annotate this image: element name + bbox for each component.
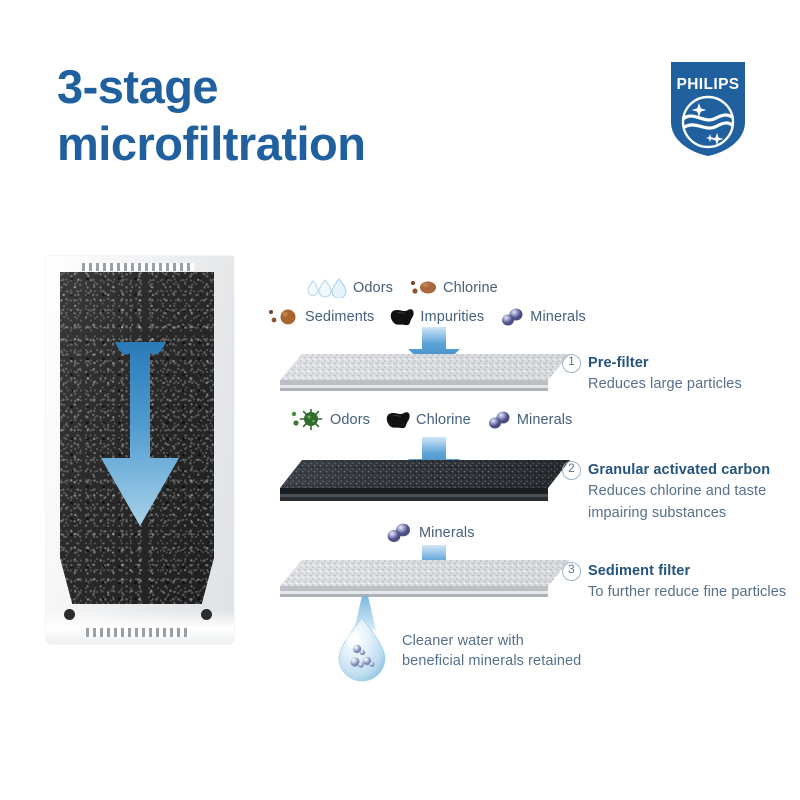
page-title: 3-stage microfiltration [57,58,537,173]
stage-number-badge: 1 [562,354,581,373]
prefilter-slab [280,350,570,394]
mineral-spheres-icon [487,410,513,430]
result-block: Cleaner water with beneficial minerals r… [333,616,581,687]
contaminant-minerals: Minerals [487,410,573,430]
cartridge-top-slots [82,263,194,271]
contaminant-chlorine: Chlorine [409,278,498,298]
cartridge-nub-left [64,609,75,620]
contaminant-odors: Odors [305,278,393,298]
stage-title: Pre-filter [588,355,649,371]
contaminant-label: Minerals [517,412,573,428]
contaminant-label: Odors [330,412,370,428]
svg-text:PHILIPS: PHILIPS [676,76,739,93]
black-blob-icon [390,307,416,327]
stage-title: Sediment filter [588,563,690,579]
contaminant-label: Minerals [530,309,586,325]
contaminant-sediments: Sediments [267,307,374,327]
black-blob-icon [386,410,412,430]
sediment-slab [280,556,570,600]
contaminant-minerals: Minerals [500,307,586,327]
contaminant-row-1-line-2: Sediments Impurities [267,307,586,327]
water-filter-cartridge [46,256,234,644]
down-arrow-icon [97,340,183,528]
contaminant-chlorine: Chlorine [386,410,471,430]
contaminant-minerals: Minerals [385,522,475,544]
philips-shield-logo: PHILIPS [669,60,747,158]
contaminant-row-1-line-1: Odors Chlorine [305,278,498,298]
stage-desc: To further reduce fine particles [588,584,786,600]
mineral-spheres-icon [385,522,415,544]
stage-title: Granular activated carbon [588,462,770,478]
contaminant-row-2: Odors Chlorine [290,409,572,431]
contaminant-row-3: Minerals [385,522,475,544]
water-droplet-with-minerals-icon [333,616,391,687]
contaminant-odors: Odors [290,409,370,431]
carbon-slab [280,456,570,504]
contaminant-label: Chlorine [416,412,471,428]
stage-3-description: 3 Sediment filter To further reduce fine… [562,560,786,603]
stage-1-description: 1 Pre-filter Reduces large particles [562,352,742,395]
stage-number-badge: 2 [562,461,581,480]
contaminant-impurities: Impurities [390,307,484,327]
green-germ-icon [290,409,326,431]
result-text: Cleaner water with beneficial minerals r… [402,632,581,671]
infographic-canvas: 3-stage microfiltration PHILIPS [0,0,800,800]
stage-number-badge: 3 [562,562,581,581]
brown-particles-icon [409,278,439,298]
water-drops-icon [305,278,349,298]
sediment-dots-icon [267,307,301,327]
contaminant-label: Impurities [420,309,484,325]
cartridge-bottom-slots [86,628,190,637]
contaminant-label: Minerals [419,525,475,541]
stage-2-description: 2 Granular activated carbon Reduces chlo… [562,459,770,523]
contaminant-label: Sediments [305,309,374,325]
mineral-spheres-icon [500,307,526,327]
contaminant-label: Chlorine [443,280,498,296]
stage-desc: Reduces large particles [588,376,742,392]
cartridge-nub-right [201,609,212,620]
contaminant-label: Odors [353,280,393,296]
stage-desc: Reduces chlorine and taste impairing sub… [588,483,766,520]
